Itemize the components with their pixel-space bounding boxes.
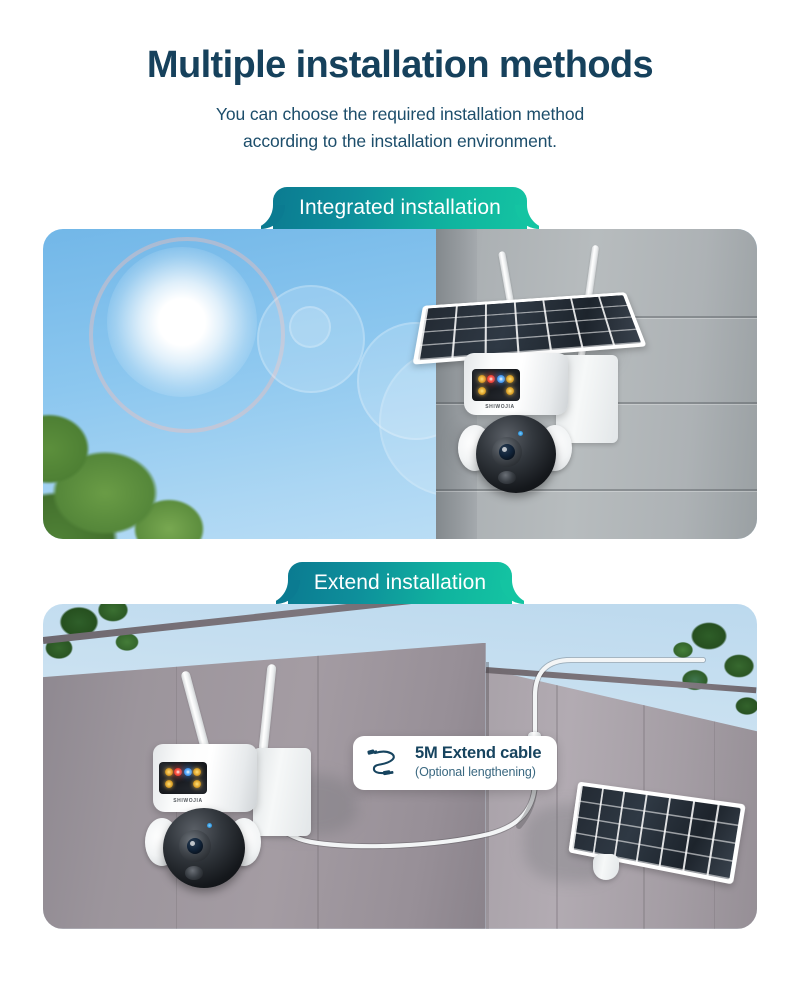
ribbon-extend-wrap: Extend installation	[0, 562, 800, 604]
lens-glint	[502, 447, 507, 452]
lens-outer	[492, 437, 522, 467]
led-amber-top-right	[506, 375, 514, 383]
extend-installation-photo: SHIWOJIA	[43, 604, 757, 929]
ribbon-integrated-wrap: Integrated installation	[0, 187, 800, 229]
status-indicator-2	[207, 823, 212, 828]
antenna-left-2	[180, 670, 210, 753]
solar-camera-device-integrated: SHIWOJIA	[428, 247, 698, 497]
led-amber-bottom-right-2	[193, 780, 201, 788]
callout-subtitle: (Optional lengthening)	[415, 765, 536, 779]
extend-cable-callout: 5M Extend cable (Optional lengthening)	[353, 736, 557, 790]
led-red-2	[174, 768, 182, 776]
led-blue-2	[184, 768, 192, 776]
wall-mount-bracket-2	[253, 748, 311, 836]
callout-text: 5M Extend cable (Optional lengthening)	[415, 744, 541, 781]
status-indicator	[518, 431, 523, 436]
page-title: Multiple installation methods	[0, 44, 800, 87]
tree-foliage-bottom-left	[43, 389, 239, 539]
led-amber-top-left-2	[165, 768, 173, 776]
section-integrated-installation: Integrated installation	[0, 187, 800, 539]
solar-camera-device-extend: SHIWOJIA	[131, 670, 381, 900]
led-red	[487, 375, 495, 383]
pir-sensor-2	[185, 866, 203, 880]
page-subtitle-line-2: according to the installation environmen…	[243, 131, 557, 151]
standalone-solar-panel-device	[563, 792, 753, 902]
solar-panel-mount	[593, 854, 619, 880]
page-header: Multiple installation methods You can ch…	[0, 0, 800, 155]
brand-label: SHIWOJIA	[472, 404, 528, 410]
callout-title: 5M Extend cable	[415, 744, 541, 762]
sun-icon	[107, 247, 257, 397]
lens-inner-2	[187, 838, 203, 854]
ptz-camera-head	[476, 415, 556, 493]
led-amber-top-right-2	[193, 768, 201, 776]
integrated-installation-photo: SHIWOJIA	[43, 229, 757, 539]
brand-label-2: SHIWOJIA	[159, 798, 217, 804]
cable-icon	[366, 747, 406, 777]
led-amber-bottom-left	[478, 387, 486, 395]
led-panel	[472, 369, 520, 401]
ptz-camera-head-2	[163, 808, 245, 888]
led-blue	[497, 375, 505, 383]
solar-cells	[418, 295, 642, 360]
lens-outer-2	[179, 830, 211, 862]
page-subtitle-line-1: You can choose the required installation…	[216, 104, 584, 124]
ribbon-integrated-label: Integrated installation	[299, 196, 501, 220]
lens-glint-2	[190, 841, 195, 846]
led-amber-bottom-left-2	[165, 780, 173, 788]
section-extend-installation: Extend installation	[0, 562, 800, 929]
led-panel-2	[159, 762, 207, 794]
ribbon-extend-label: Extend installation	[314, 571, 486, 595]
led-amber-top-left	[478, 375, 486, 383]
ribbon-extend: Extend installation	[288, 562, 512, 604]
pir-sensor	[498, 471, 516, 484]
page-subtitle: You can choose the required installation…	[0, 101, 800, 155]
lens-inner	[499, 444, 515, 460]
antenna-right-2	[258, 664, 276, 752]
building-corner-edge	[486, 662, 489, 929]
ribbon-integrated: Integrated installation	[273, 187, 527, 229]
led-amber-bottom-right	[506, 387, 514, 395]
